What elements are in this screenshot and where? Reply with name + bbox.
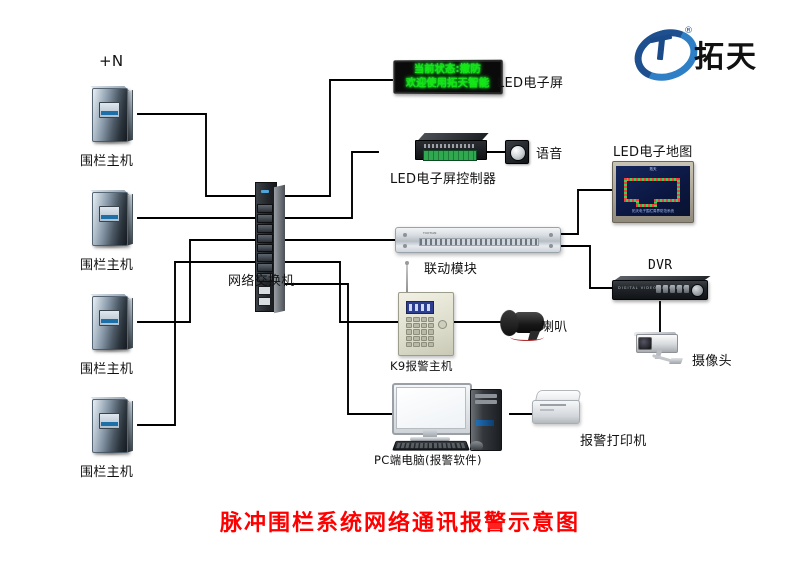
brand-logo: ® 拓天 — [632, 26, 782, 72]
led-controller-icon[interactable] — [415, 133, 489, 163]
led-map-label: LED电子地图 — [613, 141, 693, 160]
k9-alarm-host-icon[interactable] — [398, 292, 454, 356]
plus-n-annotation: +N — [99, 52, 123, 70]
fence-host-label-3: 围栏主机 — [80, 358, 133, 377]
k9-alarm-host-label: K9报警主机 — [390, 358, 453, 374]
voice-module-icon[interactable] — [505, 140, 529, 164]
fence-host-icon[interactable] — [88, 294, 136, 352]
led-display-icon[interactable]: 当前状态:撤防 欢迎使用拓天智能 — [392, 60, 502, 94]
brand-name: 拓天 — [694, 32, 758, 76]
pc-label: PC端电脑(报警软件) — [374, 452, 482, 468]
led-display-label: LED电子屏 — [497, 72, 563, 91]
led-map-icon[interactable]: 拓天 拓天电子围栏周界防范系统 — [612, 161, 694, 223]
printer-label: 报警打印机 — [580, 430, 647, 449]
led-controller-label: LED电子屏控制器 — [390, 168, 496, 187]
camera-label: 摄像头 — [692, 350, 732, 369]
camera-icon[interactable] — [630, 330, 692, 370]
linkage-module-label: 联动模块 — [424, 258, 477, 277]
fence-host-icon[interactable] — [88, 86, 136, 144]
alarm-printer-icon[interactable] — [532, 390, 582, 424]
fence-host-icon[interactable] — [88, 190, 136, 248]
fence-host-label-4: 围栏主机 — [80, 461, 133, 480]
dvr-icon[interactable]: DIGITAL VIDEO RECORDER — [612, 276, 710, 302]
tuotian-logo-icon — [632, 26, 688, 70]
network-switch-icon[interactable] — [255, 182, 289, 310]
linkage-module-icon[interactable]: TUOTIAN — [395, 227, 561, 253]
led-line-1: 当前状态:撤防 — [396, 62, 499, 76]
desktop-computer-icon[interactable] — [392, 383, 510, 451]
horn-label: 喇叭 — [541, 316, 568, 335]
dvr-label: DVR — [648, 258, 672, 273]
registered-mark: ® — [684, 26, 693, 36]
fence-host-label-2: 围栏主机 — [80, 254, 133, 273]
voice-label: 语音 — [536, 143, 563, 162]
diagram-title: 脉冲围栏系统网络通讯报警示意图 — [0, 505, 800, 537]
network-switch-label: 网络交换机 — [228, 270, 295, 289]
fence-host-icon[interactable] — [88, 397, 136, 455]
fence-host-label-1: 围栏主机 — [80, 150, 133, 169]
diagram-canvas: ® 拓天 +N 围栏主机 围栏主机 围栏主机 围栏主机 网络交换机 当前状态:撤… — [0, 0, 800, 579]
led-line-2: 欢迎使用拓天智能 — [396, 76, 499, 90]
